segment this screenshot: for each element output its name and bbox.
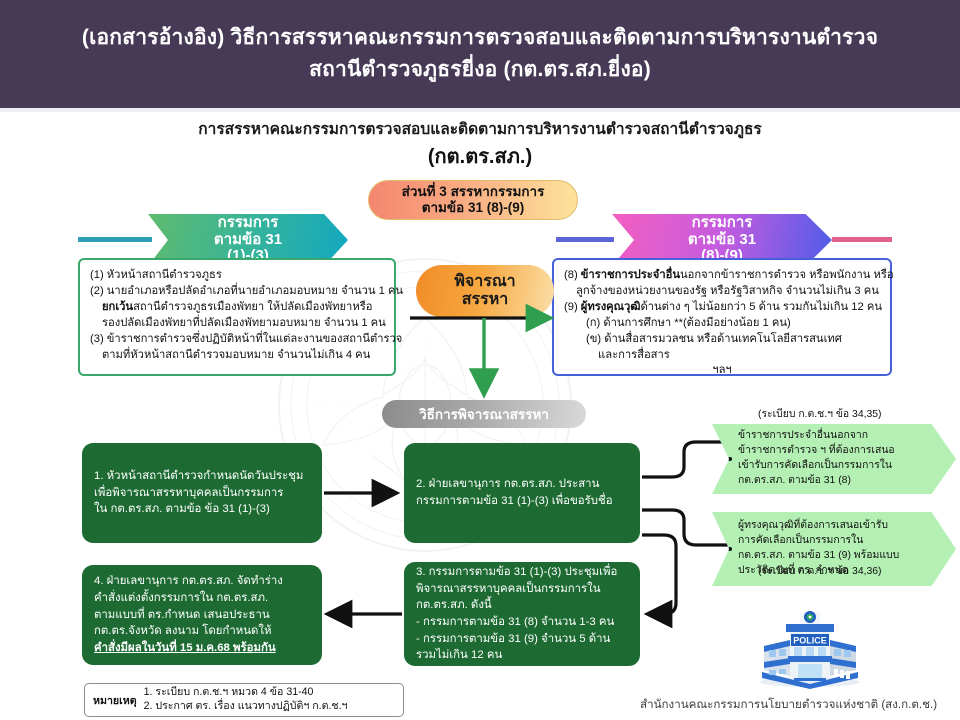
info-line: ยกเว้นสถานีตำรวจภูธรเมืองพัทยา ให้ปลัดเม… [90,300,384,316]
info-line: ลูกจ้างของหน่วยงานของรัฐ หรือรัฐวิสาหกิจ… [564,284,880,300]
info-line: ตามที่หัวหน้าสถานีตำรวจมอบหมาย จำนวนไม่เ… [90,348,384,364]
step-line: พิจารณาสรรหาบุคคลเป็นกรรมการใน [416,581,628,598]
info-line-text: ตามที่หัวหน้าสถานีตำรวจมอบหมาย จำนวนไม่เ… [102,349,370,361]
callout-line: การคัดเลือกเป็นกรรมการใน [738,534,899,549]
step-line: กต.ตร.สภ. ดังนี้ [416,597,628,614]
callout-line: ข้าราชการประจำอื่นนอกจาก [738,429,895,444]
callout-box-1: ข้าราชการประจำอื่นนอกจากข้าราชการตำรวจ ฯ… [712,424,956,494]
footnote-lines: 1. ระเบียบ ก.ต.ช.ฯ หมวด 4 ข้อ 31-402. ปร… [144,686,348,714]
chevron-right-line2: ตามข้อ 31 [688,232,756,249]
page-title: การสรรหาคณะกรรมการตรวจสอบและติดตามการบริ… [0,120,960,141]
info-line: (9) ผู้ทรงคุณวุฒิด้านต่าง ๆ ไม่น้อยกว่า … [564,300,880,316]
chevron-right-tail-left [556,237,614,242]
info-line-prefix: (8) [564,269,581,281]
bullet-icon [728,457,732,461]
info-line: ฯลฯ [564,363,880,379]
step-line: รวมไม่เกิน 12 คน [416,647,628,664]
police-station-icon: POLICE [750,590,870,690]
consider-badge-line1: พิจารณา [454,273,515,291]
step-line: 1. หัวหน้าสถานีตำรวจกำหนดนัดวันประชุม [94,468,310,485]
info-line-text: นอกจากข้าราชการตำรวจ หรือพนักงาน หรือ [680,269,894,281]
info-line-text: (ก) ด้านการศึกษา **(ต้องมีอย่างน้อย 1 คน… [586,317,791,329]
regulation-note-1: (ระเบียบ ก.ต.ช.ฯ ข้อ 34,35) [758,405,882,422]
info-line: (ข) ด้านสื่อสารมวลชน หรือด้านเทคโนโลยีสา… [564,332,880,348]
step-line-emphasis: คำสั่งมีผลในวันที่ 15 ม.ค.68 พร้อมกัน [94,642,276,654]
info-line-text: (2) นายอำเภอหรือปลัดอำเภอที่นายอำเภอมอบห… [90,285,403,297]
flowchart-page: (เอกสารอ้างอิง) วิธีการสรรหาคณะกรรมการตร… [0,0,960,720]
step-box-4: 4. ฝ่ายเลขานุการ กต.ตร.สภ. จัดทำร่างคำสั… [82,565,322,665]
info-line-emphasis: ยกเว้น [102,301,133,313]
header-title-line1: (เอกสารอ้างอิง) วิธีการสรรหาคณะกรรมการตร… [82,25,878,51]
footnote-line: 2. ประกาศ ตร. เรื่อง แนวทางปฏิบัติฯ ก.ต.… [144,700,348,714]
step-line: คำสั่งแต่งตั้งกรรมการใน กต.ตร.สภ. [94,590,310,607]
info-line: (1) หัวหน้าสถานีตำรวจภูธร [90,268,384,284]
info-line-text: และการสื่อสาร [598,349,670,361]
info-line-prefix: (9) [564,301,581,313]
step-line: เพื่อพิจารณาสรรหาบุคคลเป็นกรรมการ [94,485,310,502]
step-line: 4. ฝ่ายเลขานุการ กต.ตร.สภ. จัดทำร่าง [94,573,310,590]
chevron-left-tail [78,237,152,242]
step-line: 3. กรรมการตามข้อ 31 (1)-(3) ประชุมเพื่อ [416,564,628,581]
step-line: กต.ตร.จังหวัด ลงนาม โดยกำหนดให้ [94,623,310,640]
chevron-left-line1: กรรมการ [218,215,279,232]
method-badge: วิธีการพิจารณาสรรหา [382,400,586,428]
info-line-text: (3) ข้าราชการตำรวจซึ่งปฏิบัติหน้าที่ในแต… [90,333,402,345]
info-line-emphasis: ข้าราชการประจำอื่น [581,269,680,281]
header-band: (เอกสารอ้างอิง) วิธีการสรรหาคณะกรรมการตร… [0,0,960,108]
step-line: 2. ฝ่ายเลขานุการ กต.ตร.สภ. ประสาน [416,476,628,493]
callout-line: ข้าราชการตำรวจ ฯ ที่ต้องการเสนอ [738,444,895,459]
info-box-left: (1) หัวหน้าสถานีตำรวจภูธร(2) นายอำเภอหรื… [78,258,396,376]
step-box-1: 1. หัวหน้าสถานีตำรวจกำหนดนัดวันประชุมเพื… [82,443,322,543]
section-badge-line2: ตามข้อ 31 (8)-(9) [422,200,525,216]
info-line: และการสื่อสาร [564,348,880,364]
callout-text: ข้าราชการประจำอื่นนอกจากข้าราชการตำรวจ ฯ… [738,429,895,488]
step-line: คำสั่งมีผลในวันที่ 15 ม.ค.68 พร้อมกัน [94,640,310,657]
info-line: (8) ข้าราชการประจำอื่นนอกจากข้าราชการตำร… [564,268,880,284]
footnote-label: หมายเหตุ [93,692,137,709]
organization-footer: สำนักงานคณะกรรมการนโยบายตำรวจแห่งชาติ (ส… [640,696,937,714]
consider-badge: พิจารณา สรรหา [416,265,554,317]
bullet-icon [728,547,732,551]
info-line-text: ด้านต่าง ๆ ไม่น้อยกว่า 5 ด้าน รวมกันไม่เ… [640,301,882,313]
step-line: กรรมการตามข้อ 31 (1)-(3) เพื่อขอรับชื่อ [416,493,628,510]
info-line-text: ลูกจ้างของหน่วยงานของรัฐ หรือรัฐวิสาหกิจ… [576,285,879,297]
consider-badge-line2: สรรหา [462,291,508,309]
chevron-right-line1: กรรมการ [692,215,753,232]
step-line: ใน กต.ตร.สภ. ตามข้อ ข้อ 31 (1)-(3) [94,501,310,518]
step-box-3: 3. กรรมการตามข้อ 31 (1)-(3) ประชุมเพื่อพ… [404,562,640,666]
info-line-text: สถานีตำรวจภูธรเมืองพัทยา ให้ปลัดเมืองพัท… [133,301,372,313]
step-box-2: 2. ฝ่ายเลขานุการ กต.ตร.สภ. ประสานกรรมการ… [404,443,640,543]
regulation-note-2: (ระเบียบ ก.ต.ช.ฯ ข้อ 34,36) [758,562,882,579]
step-line: - กรรมการตามข้อ 31 (8) จำนวน 1-3 คน [416,614,628,631]
callout-line: เข้ารับการคัดเลือกเป็นกรรมการใน [738,459,895,474]
callout-line: ผู้ทรงคุณวุฒิที่ต้องการเสนอเข้ารับ [738,519,899,534]
info-line-text: รองปลัดเมืองพัทยาที่ปลัดเมืองพัทยามอบหมา… [102,317,386,329]
chevron-right-tail [832,237,892,242]
footnote-box: หมายเหตุ 1. ระเบียบ ก.ต.ช.ฯ หมวด 4 ข้อ 3… [84,683,404,717]
info-box-right: (8) ข้าราชการประจำอื่นนอกจากข้าราชการตำร… [552,258,892,376]
info-line-text: (ข) ด้านสื่อสารมวลชน หรือด้านเทคโนโลยีสา… [586,333,842,345]
chevron-left-line2: ตามข้อ 31 [214,232,282,249]
header-divider [0,108,960,112]
step-line: ตามแบบที่ ตร.กำหนด เสนอประธาน [94,607,310,624]
section-badge-line1: ส่วนที่ 3 สรรหากรรมการ [402,184,545,200]
info-line-text: (1) หัวหน้าสถานีตำรวจภูธร [90,269,222,281]
callout-line: กต.ตร.สภ. ตามข้อ 31 (8) [738,474,895,489]
info-line-text: ฯลฯ [712,364,731,376]
police-sign-text: POLICE [793,636,827,646]
header-title-line2: สถานีตำรวจภูธรยี่งอ (กต.ตร.สภ.ยี่งอ) [309,57,651,83]
step-line: - กรรมการตามข้อ 31 (9) จำนวน 5 ด้าน [416,631,628,648]
info-line: (ก) ด้านการศึกษา **(ต้องมีอย่างน้อย 1 คน… [564,316,880,332]
page-title-abbrev: (กต.ตร.สภ.) [0,140,960,172]
info-line: (2) นายอำเภอหรือปลัดอำเภอที่นายอำเภอมอบห… [90,284,384,300]
info-line: รองปลัดเมืองพัทยาที่ปลัดเมืองพัทยามอบหมา… [90,316,384,332]
footnote-line: 1. ระเบียบ ก.ต.ช.ฯ หมวด 4 ข้อ 31-40 [144,686,348,700]
info-line-emphasis: ผู้ทรงคุณวุฒิ [581,301,641,313]
info-line: (3) ข้าราชการตำรวจซึ่งปฏิบัติหน้าที่ในแต… [90,332,384,348]
section-badge: ส่วนที่ 3 สรรหากรรมการ ตามข้อ 31 (8)-(9) [368,180,578,220]
